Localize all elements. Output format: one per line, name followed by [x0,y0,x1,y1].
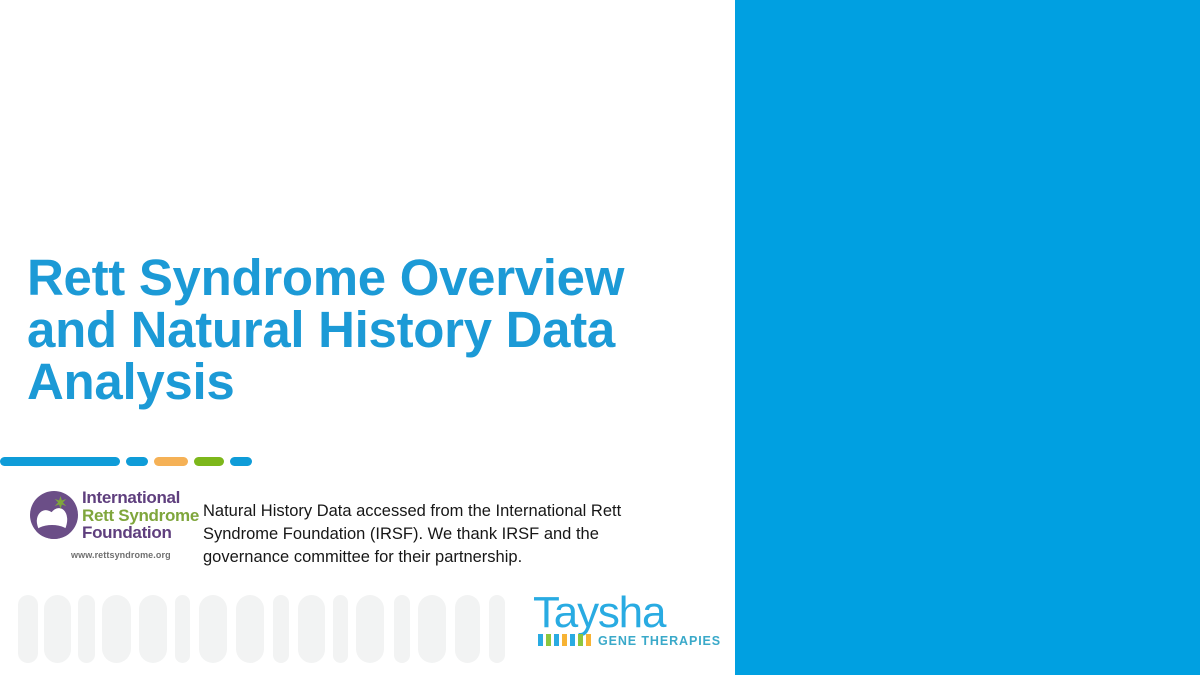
capsule-15 [455,595,480,663]
taysha-bar-3 [554,634,559,646]
taysha-bar-7 [586,634,591,646]
divider-dash-orange [154,457,188,466]
capsule-16 [489,595,505,663]
irsf-line-rett-syndrome: Rett Syndrome [82,507,199,525]
taysha-wordmark: Taysha [533,590,665,636]
irsf-logo: International Rett Syndrome Foundation w… [30,489,195,567]
irsf-wordmark: International Rett Syndrome Foundation [82,489,199,542]
divider-dash-blue-1 [126,457,148,466]
taysha-bar-2 [546,634,551,646]
capsule-11 [333,595,348,663]
taysha-tagline: GENE THERAPIES [598,634,721,648]
capsule-14 [418,595,446,663]
irsf-line-foundation: Foundation [82,524,199,542]
slide-title: Rett Syndrome Overview and Natural Histo… [27,252,687,408]
taysha-bar-6 [578,634,583,646]
capsule-7 [199,595,227,663]
accent-panel [735,0,1200,675]
taysha-bar-4 [562,634,567,646]
attribution-text: Natural History Data accessed from the I… [203,500,673,569]
irsf-website-url: www.rettsyndrome.org [71,550,171,560]
presentation-slide: Rett Syndrome Overview and Natural Histo… [0,0,1200,675]
capsule-5 [139,595,167,663]
capsule-13 [394,595,410,663]
divider-rule [0,457,245,466]
capsule-2 [44,595,71,663]
wrist-shape [35,525,69,539]
butterfly-star-icon [54,496,67,509]
capsule-10 [298,595,325,663]
decorative-capsule-strip [0,595,530,667]
capsule-6 [175,595,190,663]
taysha-bar-1 [538,634,543,646]
divider-rule-long [0,457,120,466]
capsule-9 [273,595,289,663]
capsule-12 [356,595,384,663]
irsf-hands-circle-icon [30,491,78,539]
divider-dash-green [194,457,224,466]
capsule-8 [236,595,264,663]
capsule-4 [102,595,131,663]
taysha-bar-5 [570,634,575,646]
taysha-logo: Taysha GENE THERAPIES [533,590,713,652]
capsule-3 [78,595,95,663]
irsf-line-international: International [82,489,199,507]
divider-dash-blue-2 [230,457,252,466]
capsule-1 [18,595,38,663]
